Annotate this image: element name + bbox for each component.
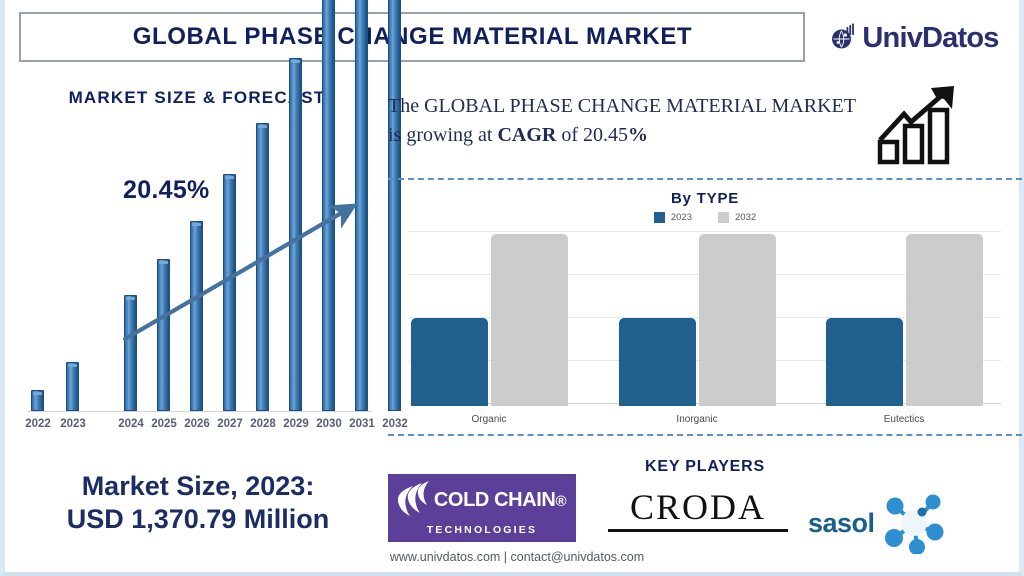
legend-item-2023: 2023 — [654, 212, 692, 223]
cct-line1: COLD CHAIN — [434, 489, 556, 511]
title-box: GLOBAL PHASE CHANGE MATERIAL MARKET — [19, 12, 805, 62]
year-label-2026: 2026 — [184, 418, 210, 430]
forecast-bar-2030 — [322, 0, 335, 411]
statement-percent-bold: % — [628, 124, 648, 146]
logo-croda: CRODA — [608, 486, 788, 532]
bytype-legend: 2023 2032 — [388, 212, 1022, 223]
cct-name: COLD CHAIN® — [434, 489, 566, 512]
logo-cold-chain-technologies: COLD CHAIN® TECHNOLOGIES — [388, 474, 576, 542]
right-panel: The GLOBAL PHASE CHANGE MATERIAL MARKET … — [388, 88, 1022, 460]
infographic-page: GLOBAL PHASE CHANGE MATERIAL MARKET Univ… — [0, 0, 1024, 576]
bytype-bar-organic-2023 — [411, 318, 488, 406]
year-label-2029: 2029 — [283, 418, 309, 430]
growth-bar-arrow-icon — [874, 84, 966, 166]
forecast-bar-chart: 20.45% 2022 2023 2024 2025 2026 2027 202… — [13, 130, 381, 448]
sasol-wordmark: sasol — [808, 508, 875, 539]
forecast-bar-2029 — [289, 58, 302, 411]
bytype-bar-inorganic-2023 — [619, 318, 696, 406]
cct-wordmark-row: COLD CHAIN® — [398, 481, 566, 521]
statement-middle: of 20.45 — [556, 124, 628, 146]
forecast-bar-2022 — [31, 390, 44, 411]
croda-wordmark: CRODA — [608, 486, 788, 528]
cagr-statement: The GLOBAL PHASE CHANGE MATERIAL MARKET … — [388, 88, 868, 150]
legend-label-2023: 2023 — [671, 212, 692, 223]
cagr-statement-row: The GLOBAL PHASE CHANGE MATERIAL MARKET … — [388, 88, 1022, 166]
sasol-molecule-icon — [881, 492, 947, 554]
bytype-bar-eutectics-2032 — [906, 234, 983, 406]
forecast-bar-2025 — [157, 259, 170, 411]
cagr-percentage-label: 20.45% — [123, 176, 210, 205]
statement-cagr-bold: CAGR — [497, 124, 556, 146]
divider-bottom — [388, 434, 1022, 436]
brand-name: UnivDatos — [862, 22, 998, 55]
forecast-year-labels: 2022 2023 2024 2025 2026 2027 2028 2029 … — [13, 418, 381, 440]
year-label-2028: 2028 — [250, 418, 276, 430]
year-label-2030: 2030 — [316, 418, 342, 430]
year-label-2027: 2027 — [217, 418, 243, 430]
gridline-top — [409, 231, 1001, 232]
bytype-bar-organic-2032 — [491, 234, 568, 406]
legend-label-2032: 2032 — [735, 212, 756, 223]
bytype-heading: By TYPE — [388, 190, 1022, 207]
brand-logo: UnivDatos — [805, 12, 1015, 64]
univdatos-globe-icon — [829, 23, 859, 53]
bytype-category-inorganic: Inorganic — [676, 414, 717, 425]
legend-item-2032: 2032 — [718, 212, 756, 223]
logo-sasol: sasol — [808, 492, 947, 554]
key-players-logos: COLD CHAIN® TECHNOLOGIES CRODA sasol — [388, 472, 1022, 548]
croda-underline — [608, 529, 788, 532]
cct-line2: TECHNOLOGIES — [427, 524, 537, 536]
year-label-2023: 2023 — [60, 418, 86, 430]
bytype-category-eutectics: Eutectics — [884, 414, 925, 425]
market-forecast-panel: MARKET SIZE & FORECAST — [13, 88, 381, 448]
forecast-bar-2028 — [256, 123, 269, 411]
year-label-2025: 2025 — [151, 418, 177, 430]
forecast-axis — [27, 411, 372, 412]
bytype-bar-chart: Organic Inorganic Eutectics — [401, 231, 1009, 406]
year-label-2024: 2024 — [118, 418, 144, 430]
year-label-2022: 2022 — [25, 418, 51, 430]
header: GLOBAL PHASE CHANGE MATERIAL MARKET Univ… — [19, 12, 1015, 64]
divider-top — [388, 178, 1022, 180]
forecast-bar-2026 — [190, 221, 203, 411]
forecast-bar-2031 — [355, 0, 368, 411]
bytype-bar-inorganic-2032 — [699, 234, 776, 406]
forecast-bar-2027 — [223, 174, 236, 411]
footer-contact: www.univdatos.com | contact@univdatos.co… — [5, 550, 1024, 564]
year-label-2031: 2031 — [349, 418, 375, 430]
forecast-bar-2024 — [124, 295, 137, 411]
market-size-line2: USD 1,370.79 Million — [23, 503, 373, 536]
bytype-category-organic: Organic — [471, 414, 506, 425]
market-size-callout: Market Size, 2023: USD 1,370.79 Million — [23, 470, 373, 536]
page-title: GLOBAL PHASE CHANGE MATERIAL MARKET — [132, 23, 691, 51]
forecast-bar-2023 — [66, 362, 79, 411]
legend-swatch-2032 — [718, 212, 729, 223]
legend-swatch-2023 — [654, 212, 665, 223]
bytype-bar-eutectics-2023 — [826, 318, 903, 406]
cold-chain-swoosh-icon — [398, 481, 432, 521]
market-size-line1: Market Size, 2023: — [23, 470, 373, 503]
